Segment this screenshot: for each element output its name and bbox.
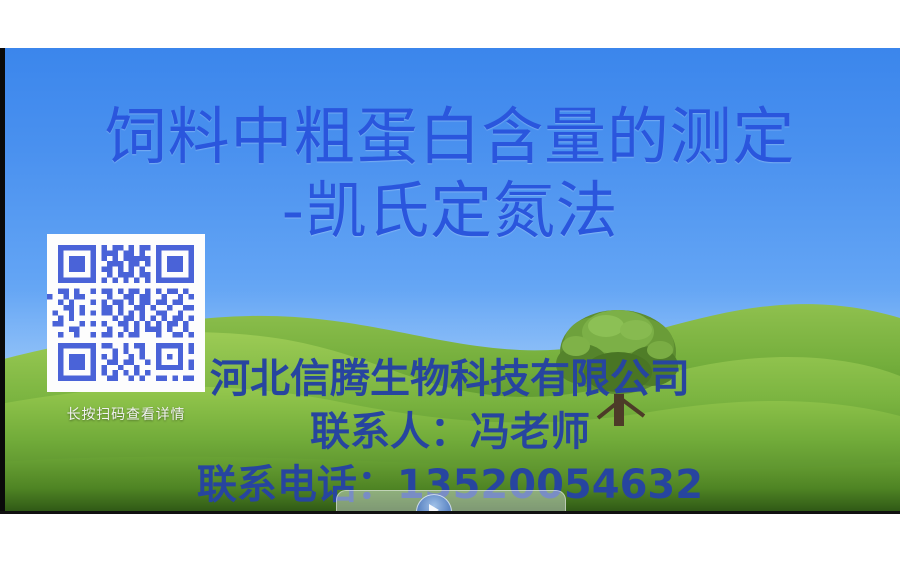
frame-left-edge xyxy=(0,48,5,514)
qr-code-caption: 长按扫码查看详情 xyxy=(47,404,205,424)
qr-code-image[interactable] xyxy=(47,234,205,392)
frame-bottom-edge xyxy=(0,511,900,514)
video-player-frame[interactable]: 饲料中粗蛋白含量的测定 -凯氏定氮法 河北信腾生物科技有限公司 联系人：冯老师 … xyxy=(0,48,900,514)
page-canvas: 饲料中粗蛋白含量的测定 -凯氏定氮法 河北信腾生物科技有限公司 联系人：冯老师 … xyxy=(0,0,900,561)
title-line-2: -凯氏定氮法 xyxy=(0,180,900,242)
slide-title: 饲料中粗蛋白含量的测定 -凯氏定氮法 xyxy=(0,48,900,242)
qr-code-card[interactable]: 长按扫码查看详情 xyxy=(47,234,205,424)
title-line-1: 饲料中粗蛋白含量的测定 xyxy=(0,106,900,168)
